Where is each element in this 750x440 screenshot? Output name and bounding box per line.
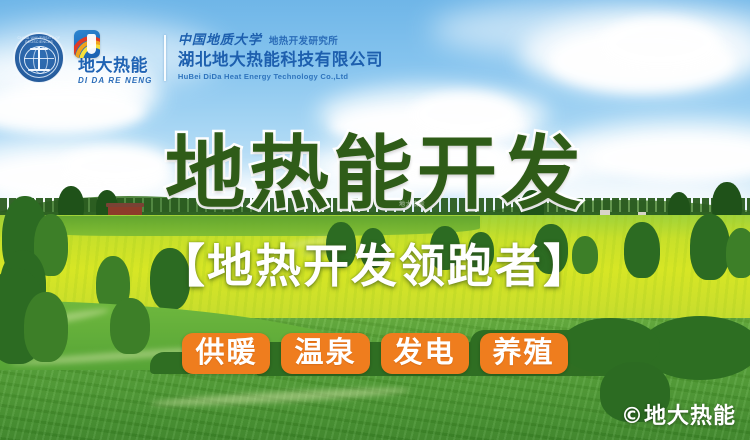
brand-name-pinyin: DI DA RE NENG: [78, 77, 152, 85]
service-tag[interactable]: 发电: [381, 333, 469, 374]
copyright-watermark: ©地大热能: [621, 398, 736, 430]
company-name-en: HuBei DiDa Heat Energy Technology Co.,Lt…: [178, 73, 383, 81]
company-name-cn: 湖北地大热能科技有限公司: [178, 52, 383, 69]
service-tag[interactable]: 温泉: [281, 333, 369, 374]
mark-blade: [87, 34, 96, 54]
geothermal-banner: CHINA UNIVERSITY OF GEOSCIENCES 地大热能 DI …: [0, 0, 750, 440]
service-tag[interactable]: 养殖: [480, 333, 568, 374]
service-tag[interactable]: 供暖: [182, 333, 270, 374]
header-divider: [164, 35, 165, 81]
brand-name-cn: 地大热能: [78, 58, 152, 75]
brand-mark: 地大热能 DI DA RE NENG: [74, 30, 152, 85]
micro-watermark: 地大热能: [399, 199, 425, 208]
brand-mark-text: 地大热能 DI DA RE NENG: [78, 58, 152, 85]
hero-subheadline: 【地热开发领跑者】: [0, 243, 750, 289]
university-seal-icon: CHINA UNIVERSITY OF GEOSCIENCES: [14, 33, 64, 83]
institute-name: 地热开发研究所: [269, 37, 338, 47]
brand-header: CHINA UNIVERSITY OF GEOSCIENCES 地大热能 DI …: [0, 0, 750, 112]
organisation-block: 中国地质大学 地热开发研究所 湖北地大热能科技有限公司 HuBei DiDa H…: [178, 34, 383, 80]
logo-lockup[interactable]: CHINA UNIVERSITY OF GEOSCIENCES 地大热能 DI …: [14, 30, 383, 85]
seal-arc-text: CHINA UNIVERSITY OF GEOSCIENCES: [15, 36, 63, 50]
university-name: 中国地质大学: [178, 34, 262, 47]
hero-subheadline-text: 【地热开发领跑者】: [159, 243, 591, 289]
seal-base-bar: [28, 69, 50, 71]
hero-headline-text: 地热能开发: [165, 134, 585, 214]
rainbow-square-icon: [74, 30, 100, 58]
service-tag-list: 供暖 温泉 发电 养殖: [0, 333, 750, 374]
hero-headline: 地热能开发: [0, 134, 750, 214]
seal-hammer-mast: [38, 47, 40, 71]
